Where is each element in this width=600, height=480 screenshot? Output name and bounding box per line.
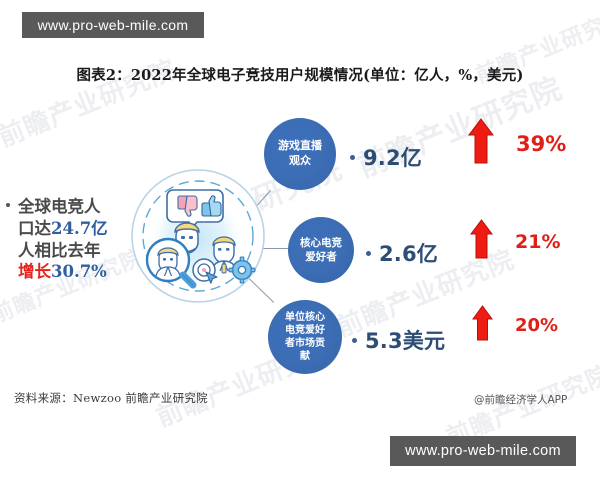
growth-arpu-contribution: 20% (472, 305, 558, 346)
attribution-note: @前瞻经济学人APP (474, 392, 567, 407)
value-bullet-icon (352, 338, 357, 343)
category-circle-arpu-contribution[interactable]: 单位核心 电竞爱好 者市场贡 献 (268, 300, 342, 374)
up-arrow-icon (468, 118, 494, 169)
site-url-badge-top: www.pro-web-mile.com (22, 12, 204, 38)
category-label-line: 单位核心 (285, 311, 325, 324)
value-bullet-icon (366, 251, 371, 256)
category-label-line: 观众 (278, 154, 322, 169)
value-text: 5.3美元 (365, 325, 445, 355)
category-circle-live-stream-viewers[interactable]: 游戏直播 观众 (264, 118, 336, 190)
category-circle-core-esports-fans[interactable]: 核心电竞 爱好者 (288, 217, 354, 283)
summary-line-1: 全球电竞人 (18, 197, 101, 216)
value-live-stream-viewers: 9.2亿 (350, 142, 422, 172)
summary-growth-value: 30.7% (51, 262, 107, 281)
esports-audience-illustration (128, 166, 268, 306)
value-core-esports-fans: 2.6亿 (366, 238, 438, 268)
value-bullet-icon (350, 155, 355, 160)
growth-live-stream-viewers: 39% (468, 118, 566, 169)
summary-growth-label: 增长 (18, 262, 51, 281)
chart-title: 图表2：2022年全球电子竞技用户规模情况(单位：亿人，%，美元) (0, 64, 600, 85)
growth-percent: 39% (516, 132, 566, 156)
category-label-line: 游戏直播 (278, 139, 322, 154)
site-url-badge-bottom: www.pro-web-mile.com (390, 436, 576, 466)
summary-line-2-prefix: 口达 (18, 219, 51, 238)
category-label-line: 核心电竞 (300, 236, 342, 250)
summary-bullet-icon (6, 203, 10, 207)
category-label-line: 电竞爱好 (285, 324, 325, 337)
category-label-line: 爱好者 (300, 250, 342, 264)
category-label-line: 者市场贡 (285, 337, 325, 350)
up-arrow-icon (470, 219, 493, 264)
value-text: 2.6亿 (379, 238, 438, 268)
growth-percent: 21% (515, 231, 560, 253)
growth-percent: 20% (515, 315, 558, 336)
summary-line-3: 人相比去年 (18, 241, 101, 260)
global-esports-population-summary: 全球电竞人 口达24.7亿 人相比去年 增长30.7% (4, 196, 136, 283)
growth-core-esports-fans: 21% (470, 219, 560, 264)
up-arrow-icon (472, 305, 493, 346)
value-text: 9.2亿 (363, 142, 422, 172)
source-note: 资料来源：Newzoo 前瞻产业研究院 (14, 390, 208, 406)
category-label-line: 献 (285, 350, 325, 363)
value-arpu-contribution: 5.3美元 (352, 325, 445, 355)
summary-population-value: 24.7亿 (51, 219, 108, 238)
